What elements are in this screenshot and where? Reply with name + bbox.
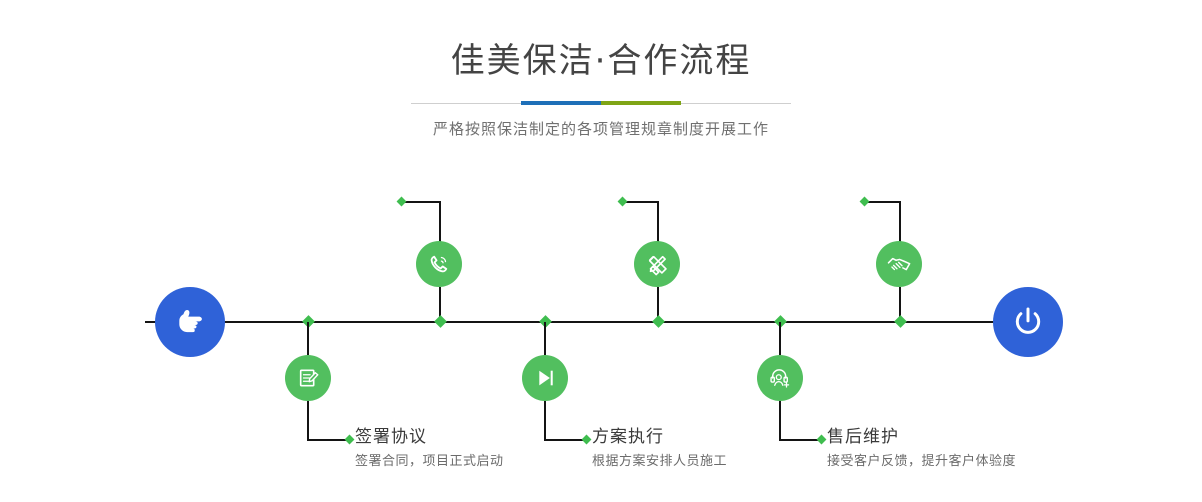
connector-vertical-6b (779, 401, 781, 440)
axis-marker-4 (652, 315, 665, 328)
connector-horizontal-3 (623, 201, 659, 203)
headset-support-icon (767, 365, 793, 391)
connector-vertical-5 (899, 201, 901, 243)
step-desc-2: 签署合同，项目正式启动 (355, 453, 504, 471)
step-desc-6: 接受客户反馈，提升客户体验度 (827, 453, 1016, 471)
connector-horizontal-4 (544, 439, 586, 441)
label-marker-2 (345, 435, 355, 445)
connector-vertical-6 (779, 322, 781, 355)
label-marker-5 (860, 197, 870, 207)
step-icon-2 (285, 355, 331, 401)
axis-marker-6 (894, 315, 907, 328)
connector-vertical-1 (439, 201, 441, 243)
axis-marker-2 (434, 315, 447, 328)
step-title-6: 售后维护 (827, 427, 1016, 447)
label-marker-3 (618, 197, 628, 207)
step-label-4: 方案执行 根据方案安排人员施工 (592, 427, 727, 471)
handshake-icon (886, 251, 913, 278)
power-icon (1009, 303, 1047, 341)
step-title-2: 签署协议 (355, 427, 504, 447)
connector-horizontal-5 (865, 201, 901, 203)
pointing-hand-icon (171, 303, 209, 341)
step-icon-1 (416, 241, 462, 287)
step-icon-3 (634, 241, 680, 287)
step-label-6: 售后维护 接受客户反馈，提升客户体验度 (827, 427, 1016, 471)
timeline-start-endpoint (155, 287, 225, 357)
play-next-icon (532, 365, 558, 391)
timeline: 电话咨询 阐明基本情况和需求 (0, 0, 1202, 502)
step-icon-4 (522, 355, 568, 401)
phone-icon (426, 251, 452, 277)
connector-vertical-3 (657, 201, 659, 243)
step-title-4: 方案执行 (592, 427, 727, 447)
label-marker-6 (817, 435, 827, 445)
timeline-axis (145, 321, 1057, 323)
ruler-pencil-icon (644, 251, 670, 277)
connector-vertical-4b (544, 401, 546, 440)
timeline-end-endpoint (993, 287, 1063, 357)
step-desc-4: 根据方案安排人员施工 (592, 453, 727, 471)
label-marker-4 (582, 435, 592, 445)
label-marker-1 (397, 197, 407, 207)
process-flow-infographic: 佳美保洁·合作流程 严格按照保洁制定的各项管理规章制度开展工作 (0, 0, 1202, 502)
connector-horizontal-1 (402, 201, 441, 203)
connector-horizontal-6 (779, 439, 821, 441)
step-label-2: 签署协议 签署合同，项目正式启动 (355, 427, 504, 471)
document-edit-icon (295, 365, 321, 391)
step-icon-5 (876, 241, 922, 287)
connector-vertical-4 (544, 322, 546, 355)
connector-vertical-2 (307, 322, 309, 355)
connector-horizontal-2 (307, 439, 349, 441)
connector-vertical-2b (307, 401, 309, 440)
step-icon-6 (757, 355, 803, 401)
